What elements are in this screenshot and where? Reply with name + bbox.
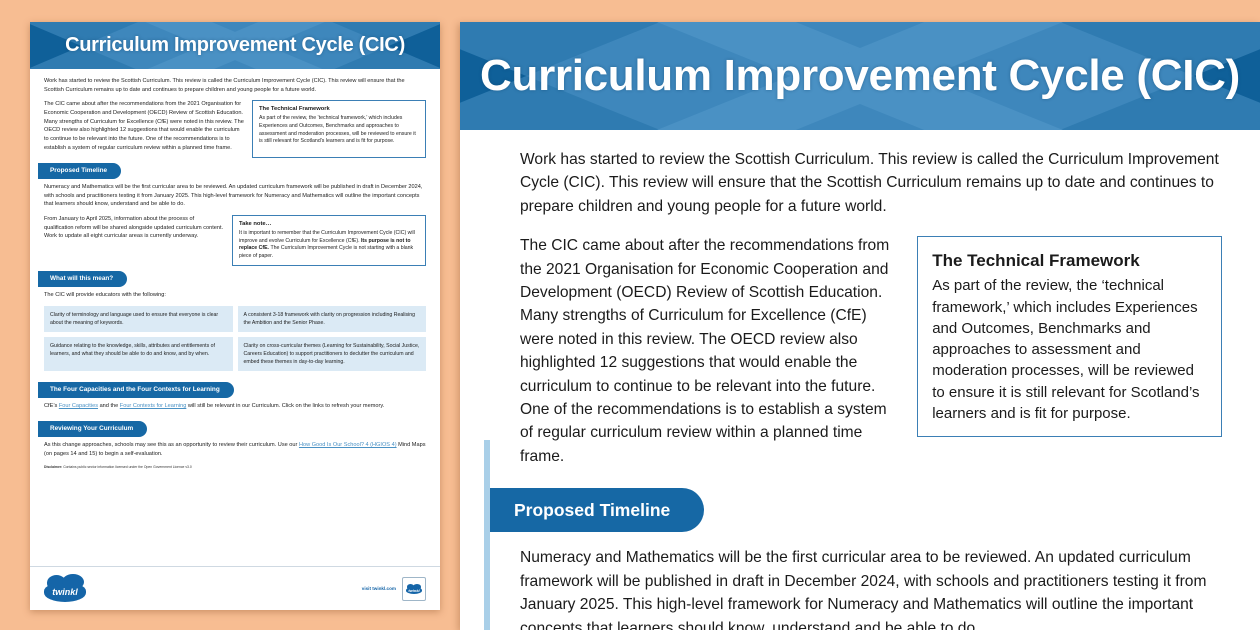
- link-hgios-4[interactable]: How Good Is Our School? 4 (HGIOS 4): [299, 442, 397, 448]
- proposed-timeline-label: Proposed Timeline: [514, 497, 670, 523]
- proposed-timeline-label: Proposed Timeline: [50, 166, 107, 176]
- page-title: Curriculum Improvement Cycle (CIC): [65, 34, 405, 57]
- thumbnail-body: Work has started to review the Scottish …: [30, 69, 440, 470]
- fc-text-1: CfE’s: [44, 403, 59, 409]
- twinkl-logo[interactable]: twinkl: [44, 582, 86, 602]
- screenshot-stage: Curriculum Improvement Cycle (CIC) Work …: [0, 0, 1260, 630]
- oecd-and-framework-row: The CIC came about after the recommendat…: [520, 234, 1222, 484]
- benefits-grid: Clarity of terminology and language used…: [44, 306, 426, 371]
- disclaimer-text: Contains public sector information licen…: [62, 465, 191, 469]
- intro-paragraph: Work has started to review the Scottish …: [520, 148, 1222, 218]
- section-heading-reviewing-your-curriculum: Reviewing Your Curriculum: [38, 421, 147, 437]
- main-header-banner: Curriculum Improvement Cycle (CIC): [460, 22, 1260, 130]
- badge-cloud-icon: twinkl: [406, 587, 422, 594]
- reviewing-curriculum-label: Reviewing Your Curriculum: [50, 424, 133, 434]
- document-thumbnail[interactable]: Curriculum Improvement Cycle (CIC) Work …: [30, 22, 440, 610]
- section-heading-proposed-timeline: Proposed Timeline: [38, 163, 121, 179]
- technical-framework-callout: The Technical Framework As part of the r…: [252, 100, 426, 158]
- benefit-box: Guidance relating to the knowledge, skil…: [44, 337, 233, 371]
- technical-framework-title: The Technical Framework: [259, 105, 419, 114]
- visit-twinkl-text[interactable]: visit twinkl.com: [362, 586, 396, 591]
- reviewing-curriculum-paragraph: As this change approaches, schools may s…: [44, 441, 426, 458]
- main-body: Work has started to review the Scottish …: [460, 130, 1260, 630]
- oecd-and-framework-row: The CIC came about after the recommendat…: [44, 100, 426, 158]
- intro-paragraph: Work has started to review the Scottish …: [44, 77, 426, 94]
- timeline-paragraph-2: From January to April 2025, information …: [44, 215, 224, 260]
- thumbnail-footer: twinkl visit twinkl.com twinkl: [30, 566, 440, 610]
- link-four-capacities[interactable]: Four Capacities: [59, 403, 98, 409]
- technical-framework-body: As part of the review, the ‘technical fr…: [932, 277, 1199, 422]
- badge-text: twinkl: [408, 588, 419, 593]
- benefit-box: Clarity on cross-curricular themes (Lear…: [238, 337, 427, 371]
- timeline-paragraph-1: Numeracy and Mathematics will be the fir…: [44, 183, 426, 209]
- section-connector-line: [484, 440, 490, 630]
- disclaimer: Disclaimer: Contains public sector infor…: [44, 465, 426, 470]
- technical-framework-title: The Technical Framework: [932, 249, 1207, 273]
- four-capacities-paragraph: CfE’s Four Capacities and the Four Conte…: [44, 402, 426, 411]
- what-mean-lead-in: The CIC will provide educators with the …: [44, 291, 426, 300]
- section-heading-what-will-this-mean: What will this mean?: [38, 271, 127, 287]
- document-main-page[interactable]: Curriculum Improvement Cycle (CIC) Work …: [460, 22, 1260, 630]
- oecd-paragraph: The CIC came about after the recommendat…: [520, 234, 899, 468]
- rc-text-1: As this change approaches, schools may s…: [44, 442, 299, 448]
- timeline-and-note-row: From January to April 2025, information …: [44, 215, 426, 266]
- technical-framework-body: As part of the review, the ‘technical fr…: [259, 115, 416, 144]
- twinkl-logo-text: twinkl: [52, 587, 78, 597]
- take-note-title: Take note…: [239, 220, 419, 229]
- four-capacities-label: The Four Capacities and the Four Context…: [50, 385, 220, 395]
- twinkl-award-badge: twinkl: [402, 577, 426, 601]
- link-four-contexts-for-learning[interactable]: Four Contexts for Learning: [120, 403, 187, 409]
- thumbnail-header-banner: Curriculum Improvement Cycle (CIC): [30, 22, 440, 69]
- fc-text-3: will still be relevant in our Curriculum…: [186, 403, 384, 409]
- section-heading-proposed-timeline: Proposed Timeline: [484, 488, 704, 532]
- benefit-box: A consistent 3-18 framework with clarity…: [238, 306, 427, 332]
- take-note-callout: Take note… It is important to remember t…: [232, 215, 426, 266]
- oecd-paragraph: The CIC came about after the recommendat…: [44, 100, 244, 152]
- fc-text-2: and the: [98, 403, 120, 409]
- page-title: Curriculum Improvement Cycle (CIC): [480, 51, 1240, 101]
- what-will-this-mean-label: What will this mean?: [50, 274, 113, 284]
- section-heading-four-capacities: The Four Capacities and the Four Context…: [38, 382, 234, 398]
- timeline-paragraph-1: Numeracy and Mathematics will be the fir…: [520, 546, 1222, 630]
- disclaimer-label: Disclaimer:: [44, 465, 62, 469]
- technical-framework-callout: The Technical Framework As part of the r…: [917, 236, 1222, 437]
- benefit-box: Clarity of terminology and language used…: [44, 306, 233, 332]
